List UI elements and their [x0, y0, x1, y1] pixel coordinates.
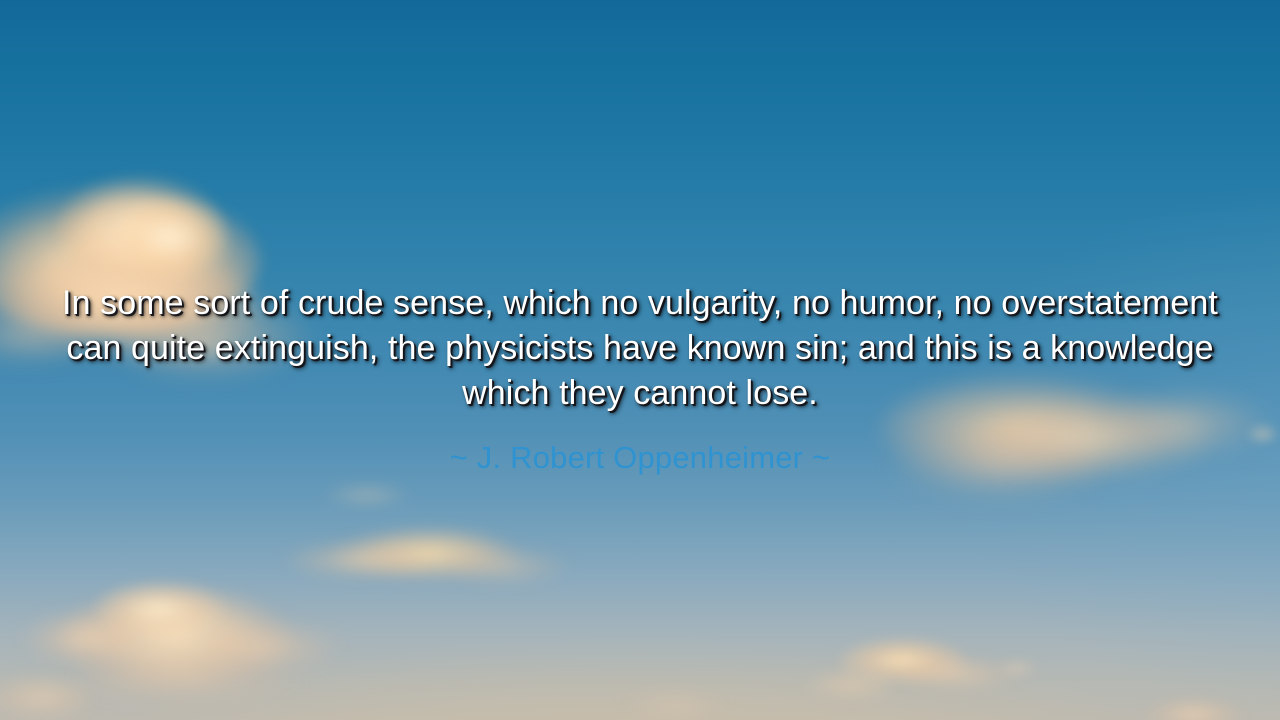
quote-image-canvas: In some sort of crude sense, which no vu…	[0, 0, 1280, 720]
text-overlay: In some sort of crude sense, which no vu…	[0, 0, 1280, 720]
quote-text: In some sort of crude sense, which no vu…	[60, 281, 1220, 416]
quote-attribution: ~ J. Robert Oppenheimer ~	[90, 437, 1190, 479]
